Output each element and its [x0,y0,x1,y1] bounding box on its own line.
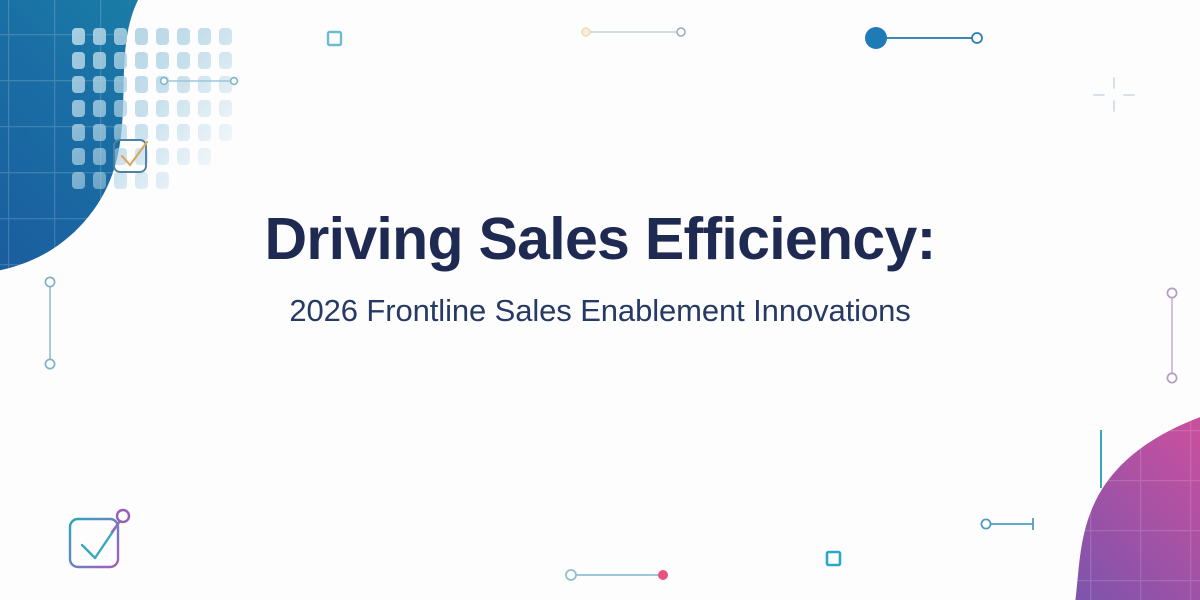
checkbox-gradient-check-icon [70,510,129,567]
square-bottom-center [827,552,840,565]
page-subtitle: 2026 Frontline Sales Enablement Innovati… [60,292,1140,331]
connector-top-left [161,78,238,85]
connector-top-center [582,28,685,36]
checkbox-orange-check-icon [114,140,147,172]
blob-bottom-right [890,330,1200,600]
connector-bottom-right [981,518,1033,530]
square-top-left [328,32,341,45]
dot-grid-pattern [72,28,252,198]
title-block: Driving Sales Efficiency: 2026 Frontline… [0,206,1200,331]
connector-top-right [865,27,982,49]
connector-bottom-center [566,570,668,580]
title-slide: Driving Sales Efficiency: 2026 Frontline… [0,0,1200,600]
crosshair-icon [1094,78,1134,111]
page-title: Driving Sales Efficiency: [60,206,1140,272]
